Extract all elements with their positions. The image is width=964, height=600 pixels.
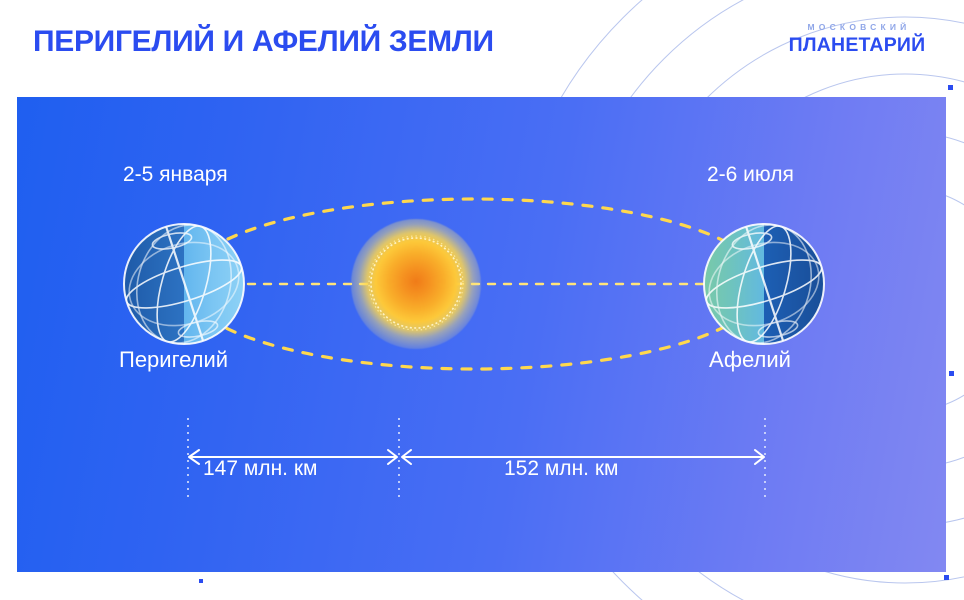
diagram-panel: 2-5 января 2-6 июля Перигелий Афелий 147… (17, 97, 946, 572)
label-distance-perihelion: 147 млн. км (203, 457, 317, 481)
planetarium-logo[interactable]: МОСКОВСКИЙ ПЛАНЕТАРИЙ (772, 22, 942, 57)
page-title: ПЕРИГЕЛИЙ И АФЕЛИЙ ЗЕМЛИ (33, 25, 494, 59)
sun-icon (351, 219, 481, 349)
label-aphelion: Афелий (709, 347, 791, 373)
label-date-perihelion: 2-5 января (123, 163, 228, 187)
logo-line-moscow: МОСКОВСКИЙ (772, 22, 942, 32)
sun-corona (351, 219, 481, 349)
earth-globe-icon-perihelion (119, 214, 249, 355)
earth-globe-icon-aphelion (699, 214, 829, 355)
logo-line-planetarium: ПЛАНЕТАРИЙ (772, 34, 942, 57)
label-perihelion: Перигелий (119, 347, 228, 373)
label-distance-aphelion: 152 млн. км (504, 457, 618, 481)
header: ПЕРИГЕЛИЙ И АФЕЛИЙ ЗЕМЛИ МОСКОВСКИЙ ПЛАН… (0, 0, 964, 97)
label-date-aphelion: 2-6 июля (707, 163, 794, 187)
